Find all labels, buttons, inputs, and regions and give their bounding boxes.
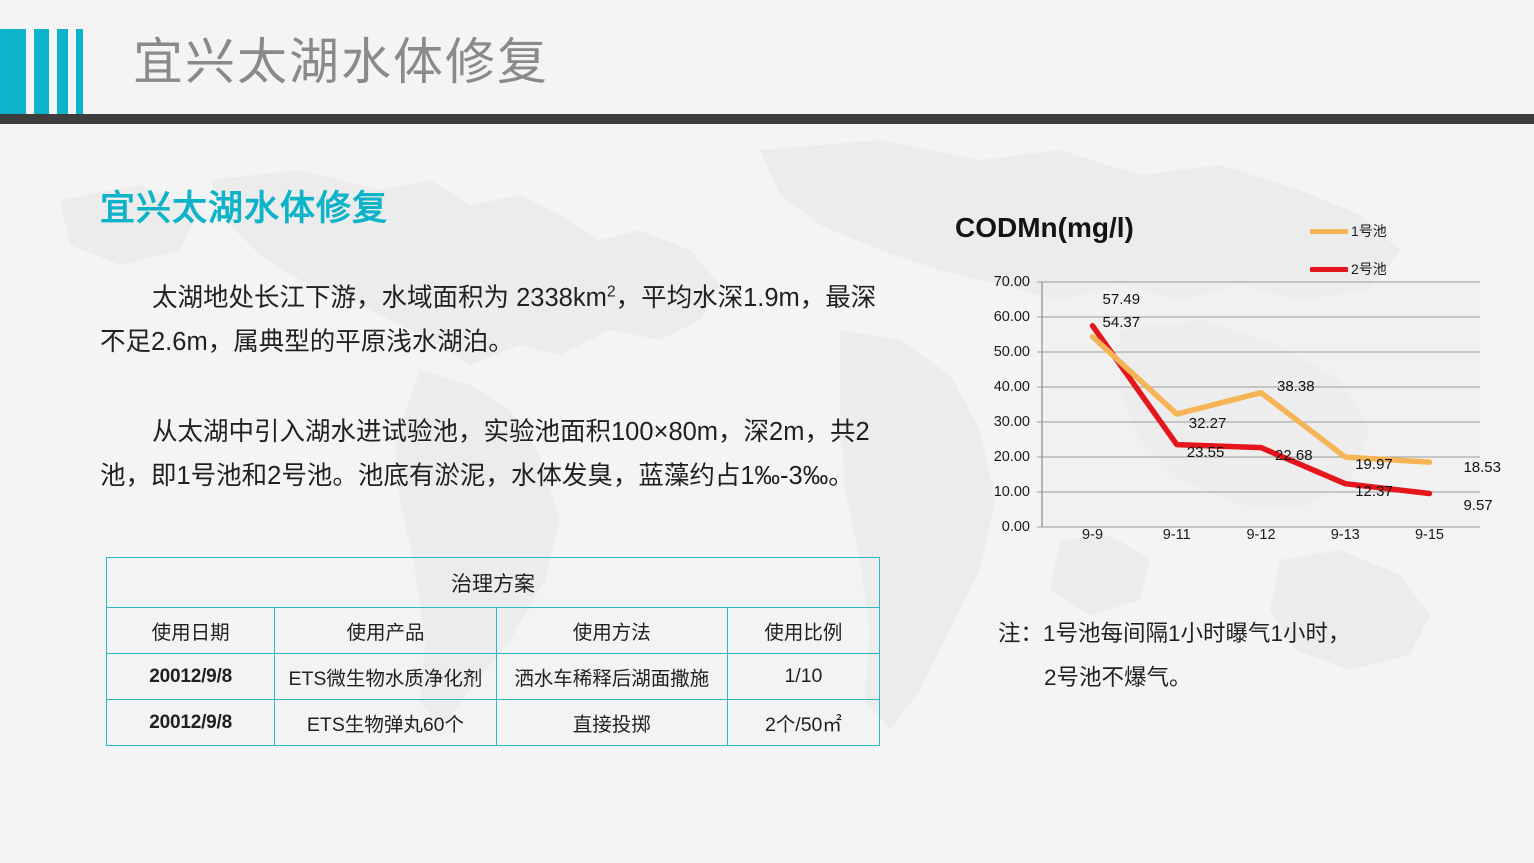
right-content-column: CODMn(mg/l) 1号池 2号池 0.0010.0020.0030.004… [940,124,1534,863]
header-accent-bar-2 [34,29,49,114]
table-col-header-date: 使用日期 [107,608,275,654]
chart-data-label: 54.37 [1103,314,1141,331]
slide-title: 宜兴太湖水体修复 [133,30,549,94]
header-accent-bar-3 [57,29,68,114]
chart-x-tick-label: 9-12 [1246,527,1275,543]
table-title-row: 治理方案 [107,558,880,608]
table-cell-product: ETS生物弹丸60个 [275,700,496,746]
chart-plot-area: 0.0010.0020.0030.0040.0050.0060.0070.00 … [952,274,1522,554]
legend-item-series-1: 1号池 [1310,212,1510,250]
table-cell-product: ETS微生物水质净化剂 [275,654,496,700]
chart-lines-svg [952,274,1522,534]
chart-title: CODMn(mg/l) [955,212,1134,244]
header-divider [0,114,1534,124]
legend-swatch-icon [1310,229,1348,234]
chart-data-label: 23.55 [1187,444,1225,461]
table-cell-method: 直接投掷 [496,700,727,746]
chart-data-label: 12.37 [1355,483,1393,500]
chart-x-axis: 9-99-119-129-139-15 [1042,527,1477,557]
header-accent-bar-1 [0,29,26,114]
table-col-header-product: 使用产品 [275,608,496,654]
table-row: 20012/9/8 ETS微生物水质净化剂 洒水车稀释后湖面撒施 1/10 [107,654,880,700]
table-cell-ratio: 2个/50㎡ [727,700,879,746]
table-header-row: 使用日期 使用产品 使用方法 使用比例 [107,608,880,654]
chart-footnote-line-2: 2号池不爆气。 [998,656,1351,700]
chart-data-label: 22.68 [1275,447,1313,464]
chart-x-tick-label: 9-13 [1331,527,1360,543]
chart-data-label: 38.38 [1277,378,1315,395]
chart-x-tick-label: 9-15 [1415,527,1444,543]
slide-header: 宜兴太湖水体修复 [0,0,1534,122]
left-content-column: 宜兴太湖水体修复 太湖地处长江下游，水域面积为 2338km2，平均水深1.9m… [0,124,940,863]
chart-data-label: 57.49 [1103,291,1141,308]
table-row: 20012/9/8 ETS生物弹丸60个 直接投掷 2个/50㎡ [107,700,880,746]
table-cell-ratio: 1/10 [727,654,879,700]
chart-x-tick-label: 9-11 [1163,527,1191,543]
paragraph-overview: 太湖地处长江下游，水域面积为 2338km2，平均水深1.9m，最深不足2.6m… [100,276,890,364]
section-heading: 宜兴太湖水体修复 [100,180,388,231]
legend-label-series-1: 1号池 [1351,221,1387,241]
chart-footnote: 注：1号池每间隔1小时曝气1小时， 2号池不爆气。 [998,612,1351,700]
header-accent-bar-4 [76,29,83,114]
table-col-header-method: 使用方法 [496,608,727,654]
paragraph-overview-superscript: 2 [607,284,616,301]
chart-data-label: 19.97 [1355,456,1393,473]
table-cell-method: 洒水车稀释后湖面撒施 [496,654,727,700]
legend-swatch-icon [1310,267,1348,272]
chart-data-label: 32.27 [1189,415,1227,432]
paragraph-overview-pre: 太湖地处长江下游，水域面积为 2338km [152,284,607,312]
chart-x-tick-label: 9-9 [1082,527,1103,543]
table-cell-date: 20012/9/8 [107,700,275,746]
table-col-header-ratio: 使用比例 [727,608,879,654]
treatment-plan-table: 治理方案 使用日期 使用产品 使用方法 使用比例 20012/9/8 ETS微生… [106,557,880,746]
chart-data-label: 9.57 [1463,497,1492,514]
table-cell-date: 20012/9/8 [107,654,275,700]
chart-footnote-line-1: 注：1号池每间隔1小时曝气1小时， [998,621,1351,646]
chart-data-label: 18.53 [1463,459,1501,476]
paragraph-experiment: 从太湖中引入湖水进试验池，实验池面积100×80m，深2m，共2池，即1号池和2… [100,410,890,498]
table-title-cell: 治理方案 [107,558,880,608]
